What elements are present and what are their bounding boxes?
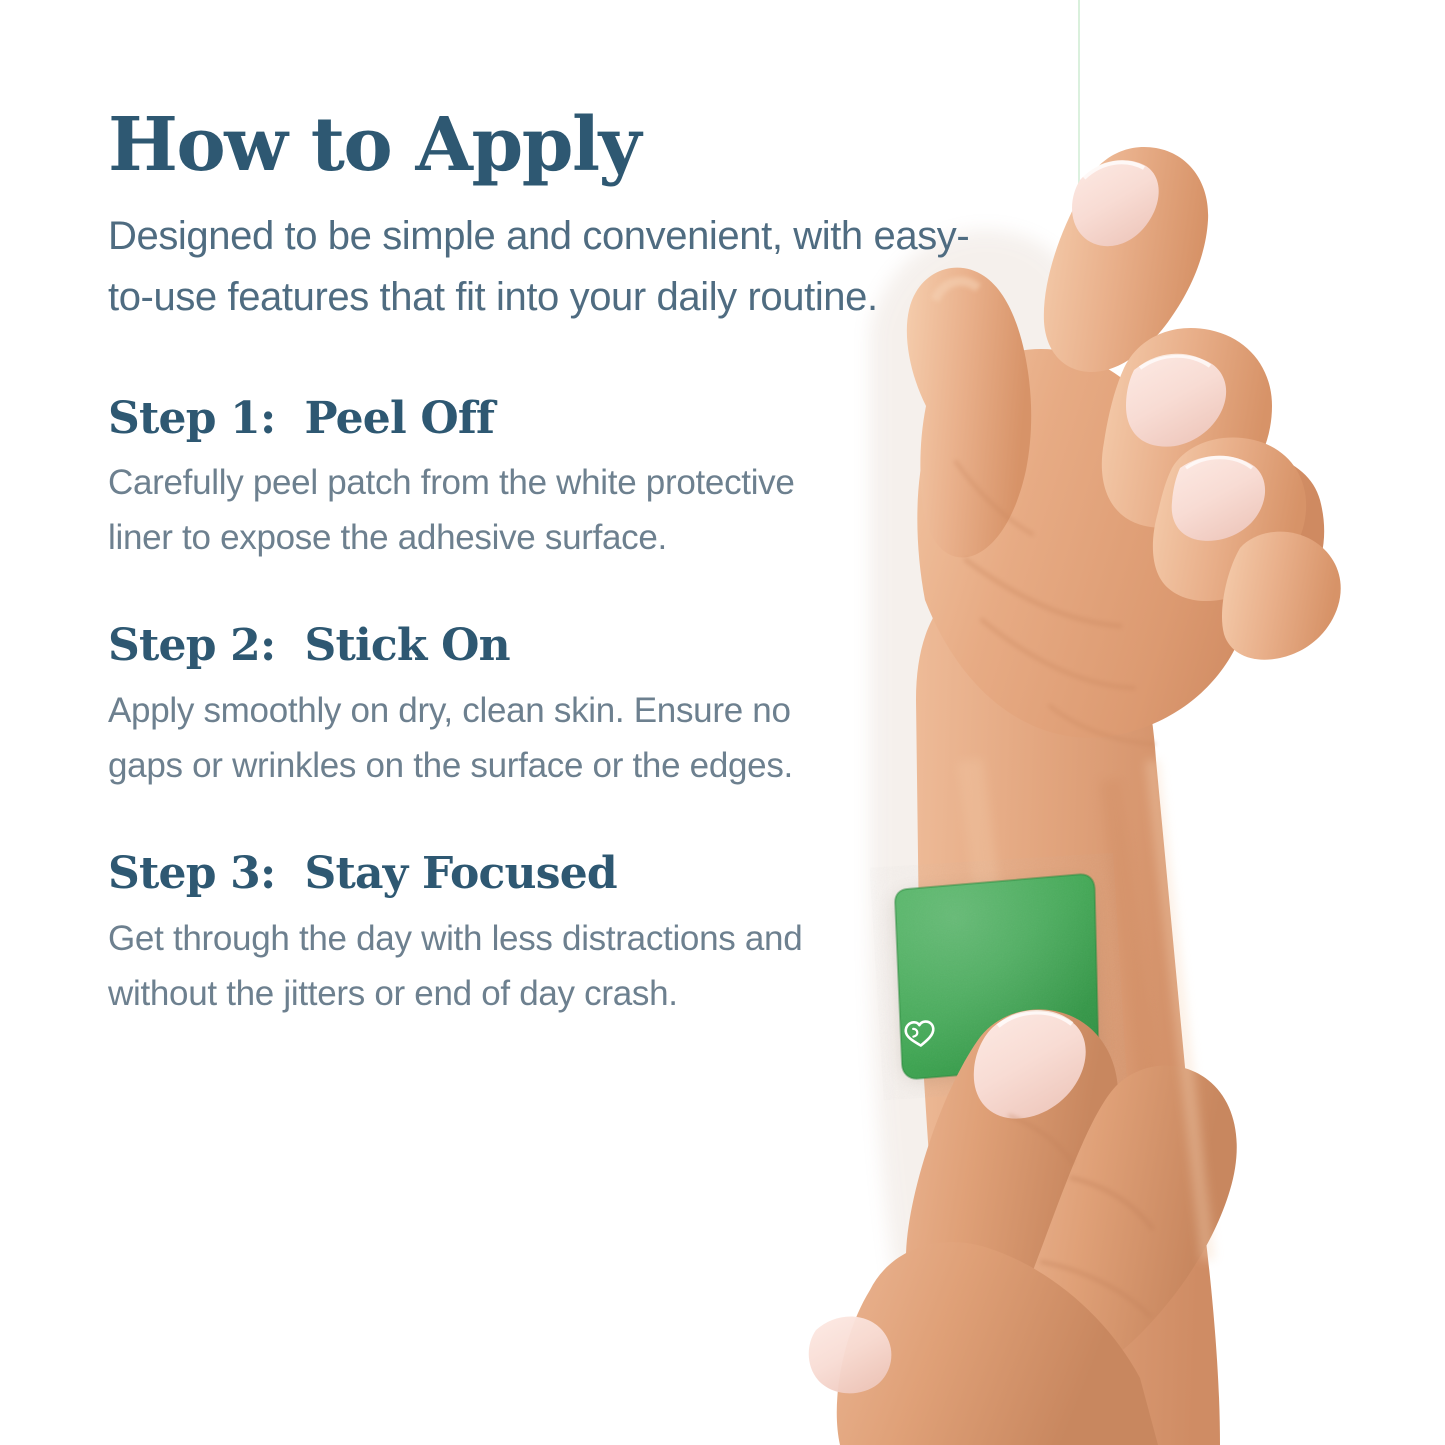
step-3: Step 3: Stay Focused Get through the day… (108, 849, 1008, 1021)
step-2-body: Apply smoothly on dry, clean skin. Ensur… (108, 683, 828, 794)
step-3-body: Get through the day with less distractio… (108, 911, 828, 1022)
step-1: Step 1: Peel Off Carefully peel patch fr… (108, 394, 1008, 566)
how-to-apply-graphic: How to Apply Designed to be simple and c… (0, 0, 1445, 1445)
page-title: How to Apply (108, 108, 1008, 182)
patch-brand-logo (901, 1018, 937, 1050)
heart-leaf-logo-icon (901, 1018, 937, 1050)
intro-paragraph: Designed to be simple and convenient, wi… (108, 206, 998, 328)
instructions-column: How to Apply Designed to be simple and c… (108, 0, 1008, 1021)
step-1-body: Carefully peel patch from the white prot… (108, 455, 828, 566)
step-3-heading: Step 3: Stay Focused (108, 849, 1008, 898)
step-2: Step 2: Stick On Apply smoothly on dry, … (108, 621, 1008, 793)
step-1-heading: Step 1: Peel Off (108, 394, 1008, 443)
step-2-heading: Step 2: Stick On (108, 621, 1008, 670)
